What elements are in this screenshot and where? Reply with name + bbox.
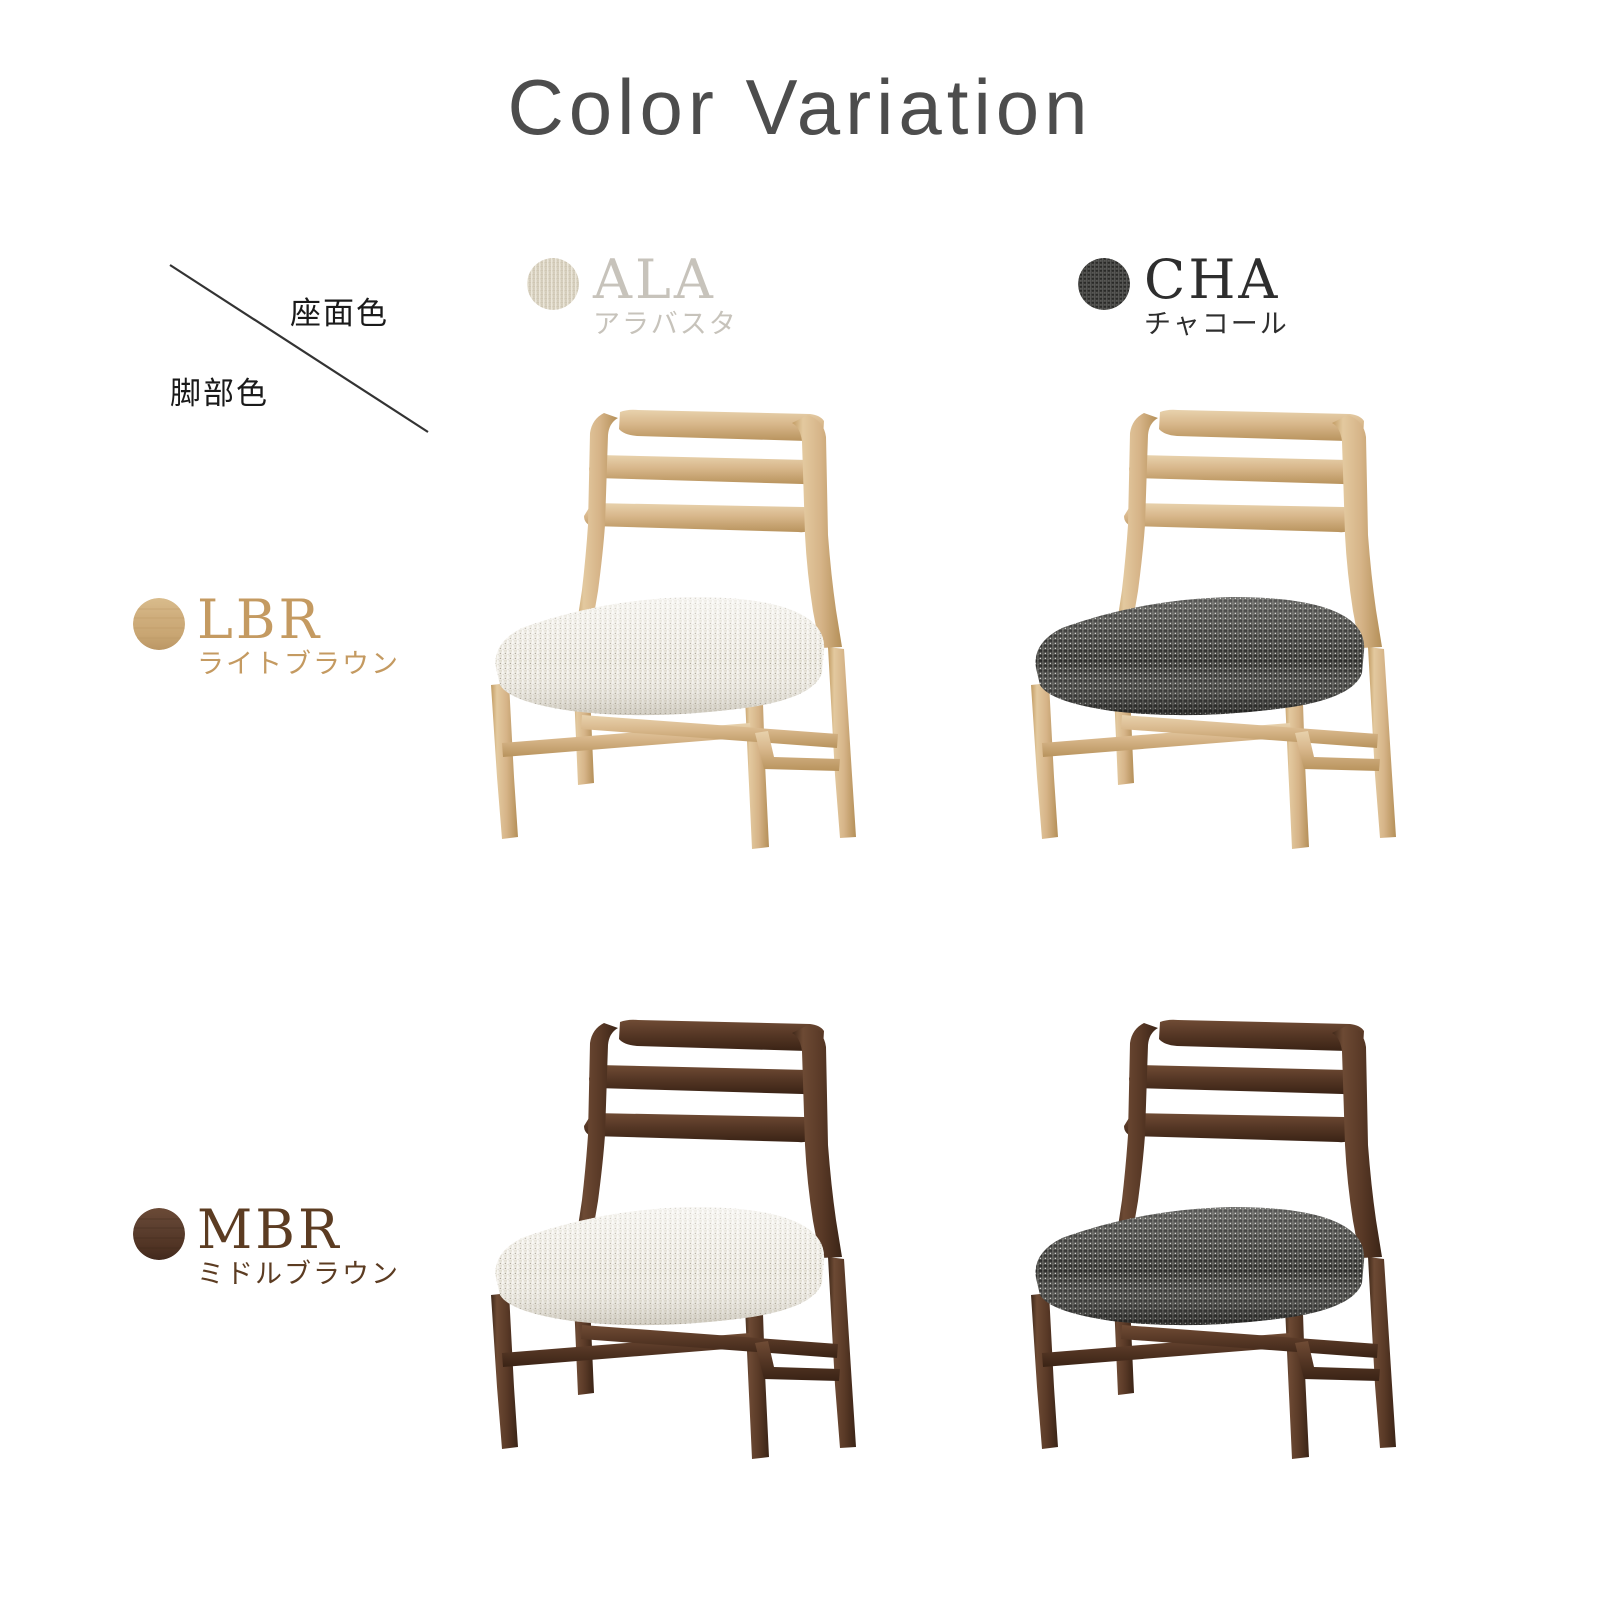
column-header-name-cha: チャコール — [1144, 308, 1289, 342]
chair-seat-cushion — [1036, 597, 1365, 715]
row-header-mbr[interactable]: MBR ミドルブラウン — [133, 1202, 400, 1292]
row-header-code-mbr: MBR — [197, 1202, 400, 1258]
column-header-ala[interactable]: ALA アラバスタ — [527, 252, 738, 342]
wood-swatch-circle-lbr — [133, 598, 185, 650]
leg-color-axis-label: 脚部色 — [170, 368, 269, 413]
column-header-code-cha: CHA — [1144, 252, 1289, 308]
matrix-corner-cell: 座面色 脚部色 — [150, 240, 450, 440]
wood-swatch-circle-mbr — [133, 1208, 185, 1260]
chair-image-lbr-ala — [452, 385, 882, 885]
chair-seat-cushion — [1036, 1207, 1365, 1325]
seat-color-axis-label: 座面色 — [290, 288, 389, 333]
column-header-code-ala: ALA — [593, 252, 738, 308]
row-header-lbr[interactable]: LBR ライトブラウン — [133, 592, 400, 682]
fabric-swatch-circle-cha — [1078, 258, 1130, 310]
row-header-name-lbr: ライトブラウン — [197, 648, 400, 682]
chair-cell-lbr-cha[interactable] — [992, 385, 1422, 885]
chair-cell-mbr-cha[interactable] — [992, 995, 1422, 1495]
chair-cell-mbr-ala[interactable] — [452, 995, 882, 1495]
chair-image-mbr-cha — [992, 995, 1422, 1495]
fabric-swatch-circle-ala — [527, 258, 579, 310]
page-title: Color Variation — [0, 62, 1600, 153]
chair-image-lbr-cha — [992, 385, 1422, 885]
chair-seat-cushion — [496, 597, 825, 715]
chair-image-mbr-ala — [452, 995, 882, 1495]
row-header-name-mbr: ミドルブラウン — [197, 1258, 400, 1292]
chair-seat-cushion — [496, 1207, 825, 1325]
chair-cell-lbr-ala[interactable] — [452, 385, 882, 885]
row-header-code-lbr: LBR — [197, 592, 400, 648]
column-header-cha[interactable]: CHA チャコール — [1078, 252, 1289, 342]
column-header-name-ala: アラバスタ — [593, 308, 738, 342]
